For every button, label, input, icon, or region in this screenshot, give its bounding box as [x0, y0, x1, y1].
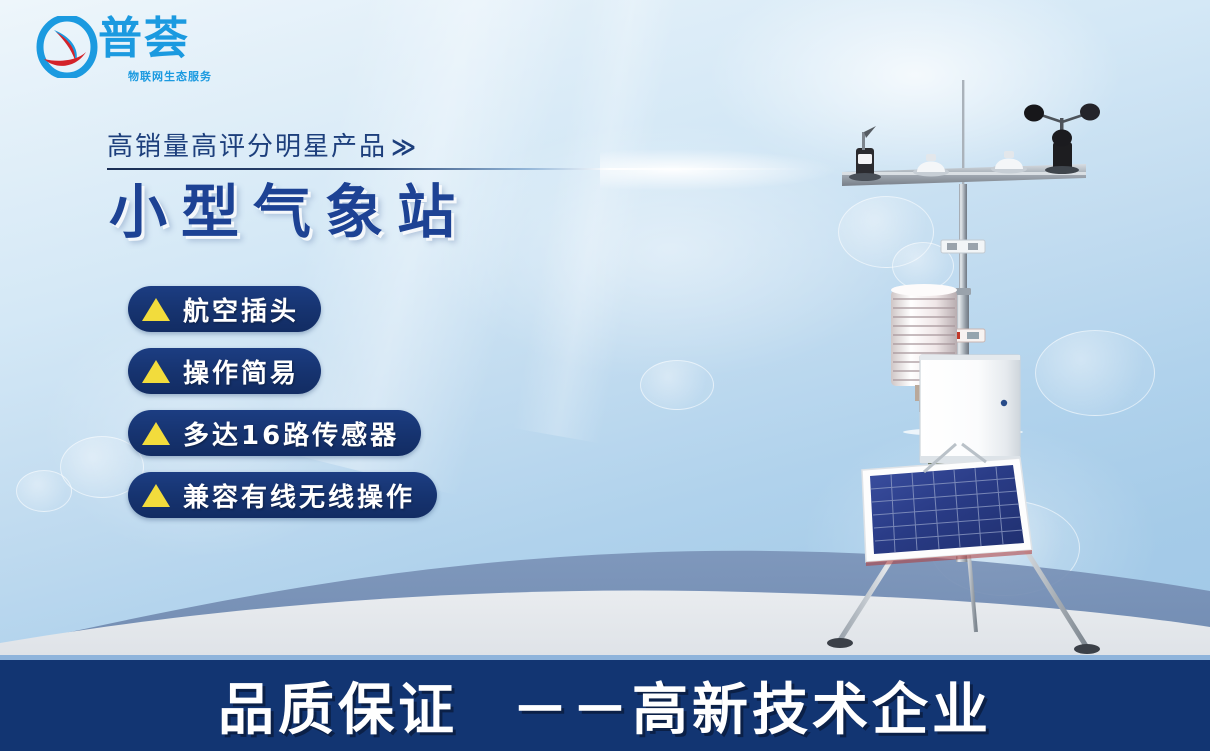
brand-name: 普荟 — [98, 17, 190, 61]
anemometer-cups — [1024, 104, 1100, 175]
bokeh-circle — [640, 360, 714, 410]
promo-banner: 普荟 物联网生态服务 高销量高评分明星产品≫ 小型气象站 航空插头 操作简易 多… — [0, 0, 1210, 751]
dome-sensor — [913, 154, 949, 177]
chevron-right-icon: ≫ — [391, 133, 418, 161]
feature-badge[interactable]: 航空插头 — [128, 286, 321, 332]
lock-indicator — [1001, 400, 1007, 406]
mast-sensor-mount — [941, 240, 985, 253]
weather-station-image — [800, 80, 1160, 660]
kicker-underline — [107, 168, 807, 170]
feature-label: 航空插头 — [183, 291, 299, 328]
page-title: 小型气象站 — [109, 180, 469, 245]
feature-label: 操作简易 — [183, 353, 299, 390]
feature-badge[interactable]: 兼容有线无线操作 — [128, 472, 437, 518]
feature-badge[interactable]: 操作简易 — [128, 348, 321, 394]
feature-badge[interactable]: 多达16路传感器 — [128, 410, 421, 456]
triangle-up-icon — [142, 298, 170, 321]
footer-bar: 品质保证－－高新技术企业 — [0, 655, 1210, 751]
brand-logo[interactable]: 普荟 物联网生态服务 — [36, 14, 276, 84]
rain-gauge — [991, 151, 1027, 174]
triangle-up-icon — [142, 422, 170, 445]
feature-label: 多达16路传感器 — [183, 415, 399, 452]
kicker-text: 高销量高评分明星产品≫ — [107, 126, 418, 163]
feature-label: 兼容有线无线操作 — [183, 477, 415, 514]
footer-text: 品质保证－－高新技术企业 — [218, 665, 992, 746]
feature-list: 航空插头 操作简易 多达16路传感器 兼容有线无线操作 — [128, 286, 437, 534]
kicker-label: 高销量高评分明星产品 — [107, 132, 387, 162]
brand-tagline: 物联网生态服务 — [128, 68, 212, 84]
circle-swoosh-logo-icon — [36, 16, 98, 78]
footer-left-text: 品质保证 — [218, 678, 458, 743]
triangle-up-icon — [142, 484, 170, 507]
triangle-up-icon — [142, 360, 170, 383]
light-streak — [512, 0, 698, 444]
footer-right-text: －－高新技术企业 — [512, 678, 992, 743]
